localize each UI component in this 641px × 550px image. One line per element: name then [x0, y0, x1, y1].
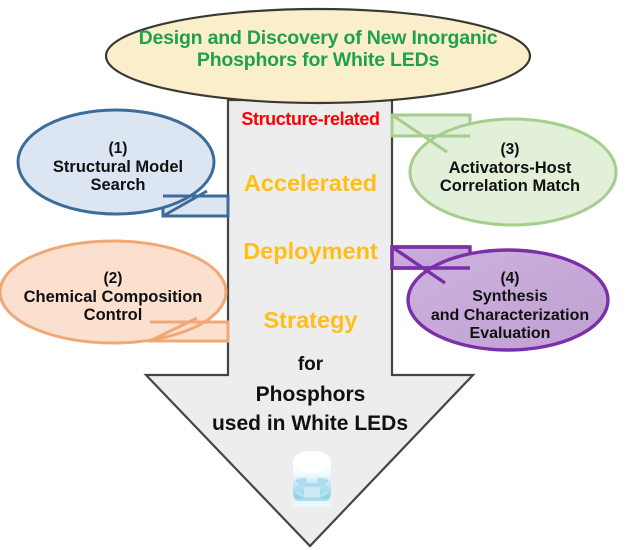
center-line-used-in-white-leds: used in White LEDs — [180, 412, 440, 436]
callout-4-text: Synthesis and Characterization Evaluatio… — [431, 288, 589, 341]
callout-3-text: Activators-Host Correlation Match — [440, 159, 580, 196]
diagram-title: Design and Discovery of New Inorganic Ph… — [108, 28, 528, 72]
callout-4-label: (4) Synthesis and Characterization Evalu… — [410, 252, 610, 343]
callout-4-number: (4) — [501, 270, 520, 287]
center-line-accelerated: Accelerated — [228, 170, 393, 196]
callout-1-text: Structural Model Search — [53, 158, 183, 195]
callout-3-number: (3) — [501, 141, 520, 158]
center-line-deployment: Deployment — [228, 238, 393, 264]
center-line-strategy: Strategy — [228, 307, 393, 333]
center-line-phosphors: Phosphors — [205, 383, 416, 407]
diagram-text-layer: Design and Discovery of New Inorganic Ph… — [0, 0, 641, 550]
callout-2-label: (2) Chemical Composition Control — [0, 250, 226, 325]
center-line-structure-related: Structure-related — [228, 109, 393, 129]
callout-2-number: (2) — [104, 270, 123, 287]
callout-3-label: (3) Activators-Host Correlation Match — [412, 121, 608, 196]
callout-1-number: (1) — [109, 140, 128, 157]
diagram-canvas: Design and Discovery of New Inorganic Ph… — [0, 0, 641, 550]
center-line-for: for — [228, 354, 393, 375]
callout-2-text: Chemical Composition Control — [24, 288, 203, 325]
callout-1-label: (1) Structural Model Search — [23, 120, 213, 195]
